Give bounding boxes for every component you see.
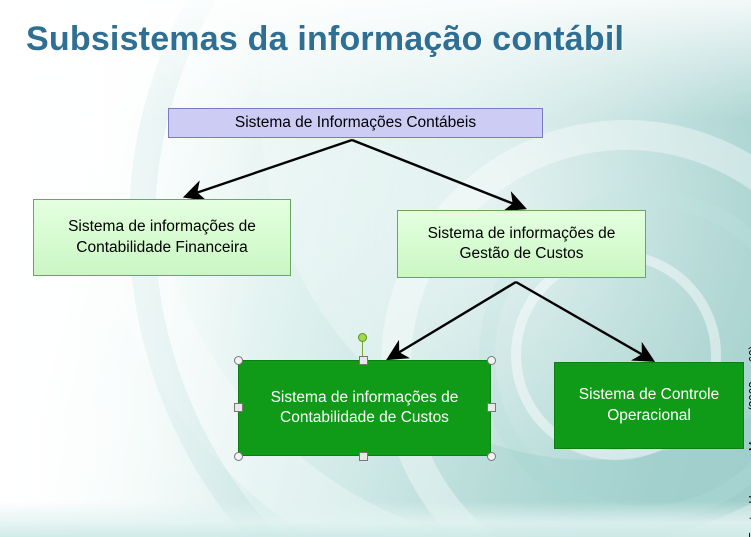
rotation-handle[interactable] [358,333,367,342]
slide-canvas: Subsistemas da informação contábil Siste… [0,0,751,537]
node-sistema-informacoes-contabeis[interactable]: Sistema de Informações Contábeis [168,108,543,138]
node-gestao-de-custos[interactable]: Sistema de informações de Gestão de Cust… [397,210,646,278]
node-contabilidade-financeira[interactable]: Sistema de informações de Contabilidade … [33,199,291,276]
selection-handle-bottom-left[interactable] [234,452,243,461]
node-controle-operacional[interactable]: Sistema de Controle Operacional [554,362,744,449]
selection-handle-top-center[interactable] [359,356,368,365]
selection-handle-bottom-center[interactable] [359,452,368,461]
selection-handle-top-right[interactable] [487,356,496,365]
background-bottom-band [0,501,751,537]
selection-handle-middle-left[interactable] [234,403,243,412]
selection-handle-bottom-right[interactable] [487,452,496,461]
selection-handle-top-left[interactable] [234,356,243,365]
node-contabilidade-de-custos[interactable]: Sistema de informações de Contabilidade … [238,360,491,456]
selection-handle-middle-right[interactable] [487,403,496,412]
page-title: Subsistemas da informação contábil [26,20,726,59]
